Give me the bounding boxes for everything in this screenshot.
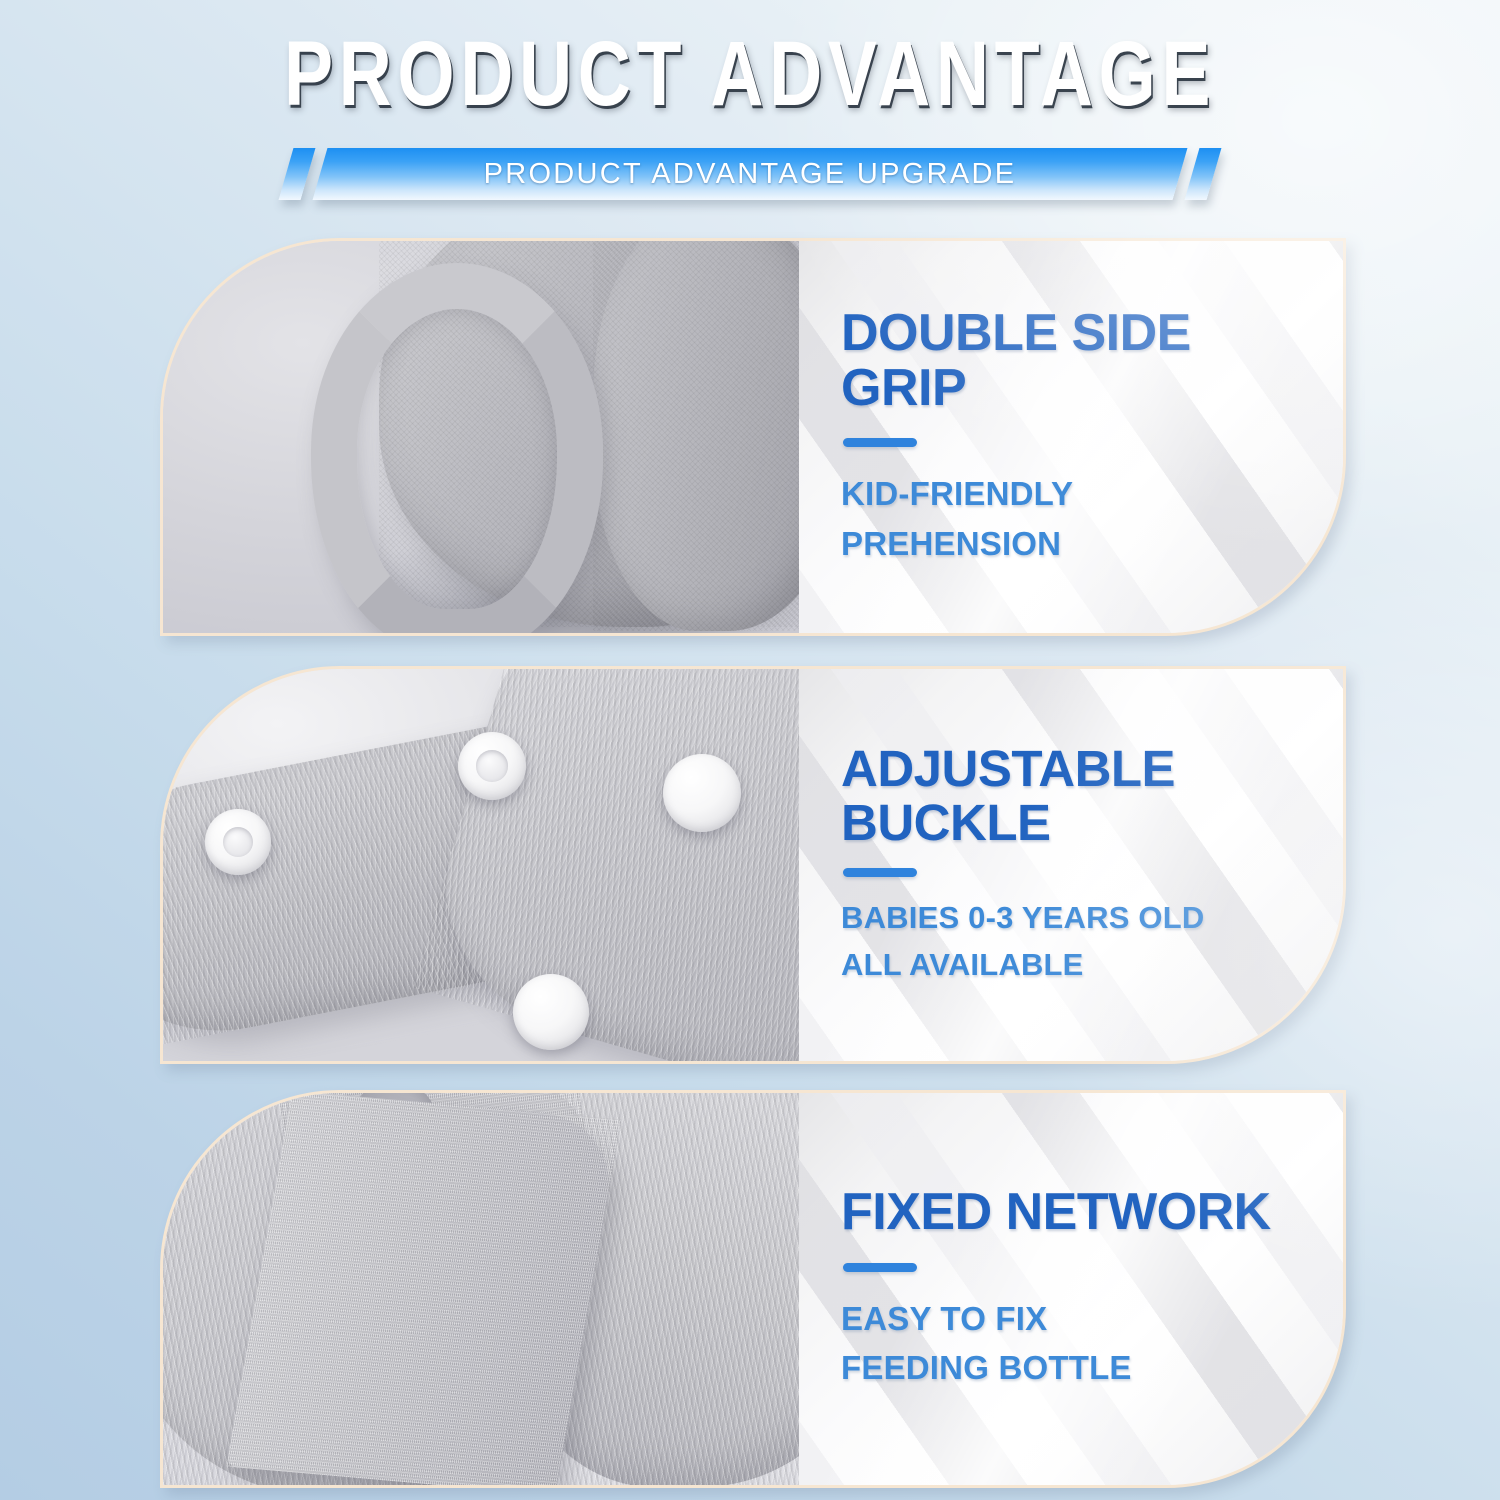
snap-button: [205, 809, 271, 875]
feature-photo: [163, 669, 799, 1061]
feature-subtitle: BABIES 0-3 YEARS OLD ALL AVAILABLE: [841, 895, 1303, 988]
banner-label: PRODUCT ADVANTAGE UPGRADE: [0, 148, 1500, 200]
feature-photo: [163, 1093, 799, 1485]
subtitle-banner: PRODUCT ADVANTAGE UPGRADE: [0, 148, 1500, 214]
feature-text-panel: FIXED NETWORK EASY TO FIX FEEDING BOTTLE: [799, 1093, 1343, 1485]
feature-title: DOUBLE SIDE GRIP: [841, 306, 1303, 416]
title-underline: [843, 1263, 917, 1272]
feature-card: DOUBLE SIDE GRIP KID-FRIENDLY PREHENSION: [160, 238, 1346, 636]
feature-title: ADJUSTABLE BUCKLE: [841, 742, 1303, 850]
snap-button: [663, 754, 741, 832]
elastic-band-shape: [227, 1093, 622, 1485]
plush-loop-handle-shape: [311, 263, 603, 633]
feature-card: FIXED NETWORK EASY TO FIX FEEDING BOTTLE: [160, 1090, 1346, 1488]
snap-button: [458, 732, 526, 800]
title-underline: [843, 438, 917, 447]
knit-texture: [227, 1093, 622, 1485]
fabric-texture: [593, 241, 799, 631]
plush-body-secondary-shape: [593, 241, 799, 631]
feature-subtitle: KID-FRIENDLY PREHENSION: [841, 469, 1303, 568]
header: PRODUCT ADVANTAGE: [0, 0, 1500, 123]
title-underline: [843, 868, 917, 877]
page-title: PRODUCT ADVANTAGE: [150, 0, 1350, 123]
infographic-page: PRODUCT ADVANTAGE PRODUCT ADVANTAGE UPGR…: [0, 0, 1500, 1500]
feature-text-panel: DOUBLE SIDE GRIP KID-FRIENDLY PREHENSION: [799, 241, 1343, 633]
feature-photo: [163, 241, 799, 633]
feature-subtitle: EASY TO FIX FEEDING BOTTLE: [841, 1294, 1303, 1393]
feature-text-panel: ADJUSTABLE BUCKLE BABIES 0-3 YEARS OLD A…: [799, 669, 1343, 1061]
feature-title: FIXED NETWORK: [841, 1185, 1303, 1240]
snap-button: [513, 974, 589, 1050]
feature-card: ADJUSTABLE BUCKLE BABIES 0-3 YEARS OLD A…: [160, 666, 1346, 1064]
